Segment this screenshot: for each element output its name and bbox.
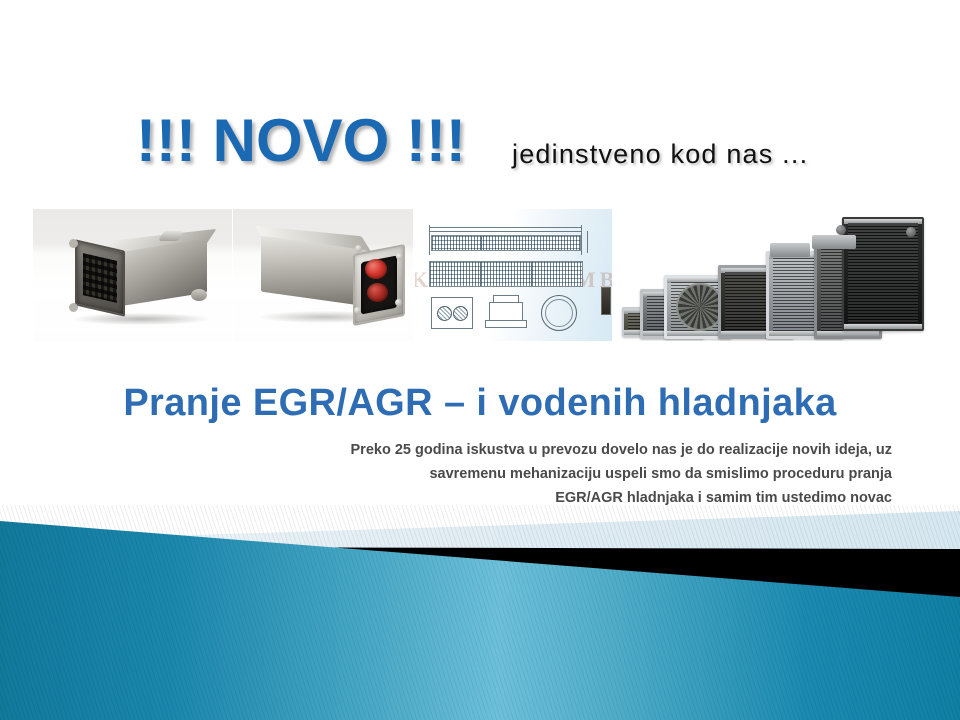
dimension-line <box>429 231 581 232</box>
egr-cooler-photo-open-end <box>233 209 413 341</box>
page-title: !!! NOVO !!! <box>136 105 466 177</box>
cad-drawing: KOVIVEX GMBH <box>415 209 612 341</box>
cooler-port-flange <box>191 289 207 301</box>
radiator-core <box>848 223 918 325</box>
red-port-plug <box>365 259 387 279</box>
body-paragraph: Preko 25 godina iskustva u prevozu dovel… <box>180 438 892 510</box>
cooler-bolt <box>355 245 362 252</box>
drawing-side-element <box>601 287 611 315</box>
radiator-hose-nipple <box>836 225 846 235</box>
egr-cooler-illustration <box>255 223 407 329</box>
extension-line <box>581 225 582 255</box>
radiator-header-tank <box>770 243 810 257</box>
core-segment-divider <box>481 236 482 250</box>
photo-floor-shadow <box>73 313 209 325</box>
radiator-cascade-illustration <box>614 209 928 341</box>
boss-wall <box>489 302 523 322</box>
technical-drawing-panel: KOVIVEX GMBH <box>415 209 612 341</box>
core-segment-divider <box>531 262 532 286</box>
cooler-bolt <box>396 253 403 260</box>
radiator-tank-bottom <box>817 331 879 336</box>
port-bore <box>453 306 468 321</box>
cooler-bolt <box>395 299 402 306</box>
radiator-header-tank <box>812 235 856 249</box>
slide-canvas: !!! NOVO !!! jedinstveno kod nas ... <box>0 0 960 720</box>
boss-base <box>485 320 527 328</box>
bore-circle-view <box>541 295 577 331</box>
radiator-lineup-photo <box>614 209 928 341</box>
footer-wedges <box>0 505 960 720</box>
image-strip: KOVIVEX GMBH <box>33 209 928 341</box>
twin-port-flange-view <box>431 297 473 329</box>
cooler-bolt <box>69 239 78 248</box>
cooler-bolt <box>69 303 78 312</box>
egr-cooler-illustration <box>65 229 215 329</box>
extension-line <box>429 225 430 255</box>
cooler-core-front-view <box>429 261 583 287</box>
boss-section-view <box>483 293 527 329</box>
headline: Pranje EGR/AGR – i vodenih hladnjaka <box>0 380 960 426</box>
body-line: Preko 25 godina iskustva u prevozu dovel… <box>180 438 892 462</box>
radiator-fan <box>676 283 724 331</box>
dimension-line <box>429 227 581 228</box>
extension-line <box>587 231 588 253</box>
page-subtitle: jedinstveno kod nas ... <box>512 137 808 171</box>
red-port-plug <box>367 283 388 302</box>
core-segment-divider <box>480 262 481 286</box>
title-block: !!! NOVO !!! jedinstveno kod nas ... <box>0 105 960 185</box>
footer-decoration <box>0 505 960 720</box>
core-segment-divider <box>531 236 532 250</box>
cooler-fin-matrix <box>83 253 117 303</box>
cooler-core-top-view <box>431 235 581 251</box>
port-bore <box>437 306 452 321</box>
radiator-hose-nipple <box>906 227 916 237</box>
radiator-tank-bottom <box>844 324 922 329</box>
cooler-matrix-face <box>75 239 125 317</box>
egr-cooler-photo-matrix-side <box>33 209 232 341</box>
cooler-bolt <box>354 307 361 314</box>
body-line: savremenu mehanizaciju uspeli smo da smi… <box>180 462 892 486</box>
